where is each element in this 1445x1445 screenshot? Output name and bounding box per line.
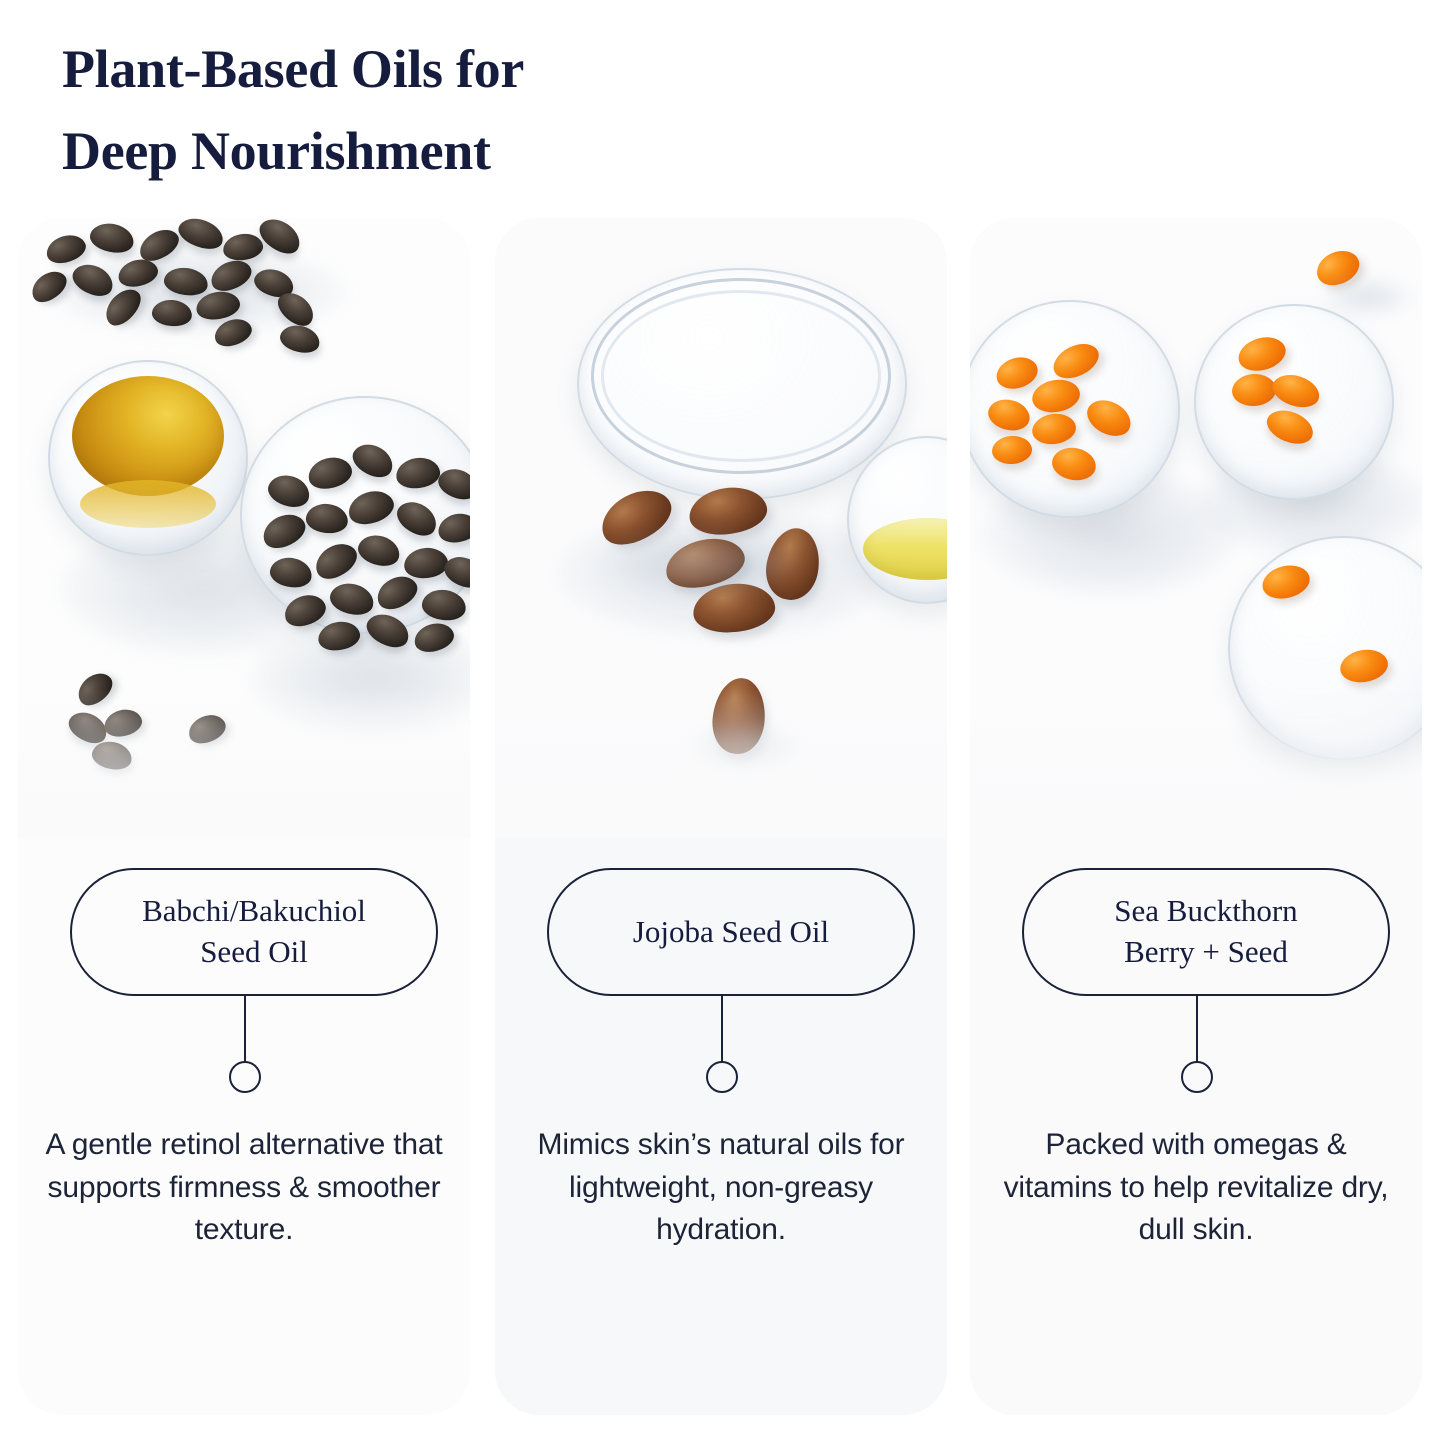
- connector-line: [244, 996, 246, 1062]
- connector-line: [1196, 996, 1198, 1062]
- ingredient-photo-sea-buckthorn: [970, 218, 1422, 838]
- ingredient-label-babchi[interactable]: Babchi/Bakuchiol Seed Oil: [70, 868, 438, 996]
- ingredient-label-sea-buckthorn[interactable]: Sea Buckthorn Berry + Seed: [1022, 868, 1390, 996]
- page-title: Plant-Based Oils for Deep Nourishment: [62, 28, 822, 192]
- ingredient-photo-jojoba: [495, 218, 947, 838]
- infographic-page: Plant-Based Oils for Deep Nourishment: [0, 0, 1445, 1445]
- connector-dot-icon: [229, 1061, 261, 1093]
- connector-dot-icon: [706, 1061, 738, 1093]
- ingredient-label-jojoba[interactable]: Jojoba Seed Oil: [547, 868, 915, 996]
- ingredient-column-babchi: Babchi/Bakuchiol Seed Oil A gentle retin…: [18, 218, 470, 1418]
- ingredient-photo-babchi: [18, 218, 470, 838]
- ingredient-description-babchi: A gentle retinol alternative that suppor…: [44, 1124, 444, 1252]
- connector-line: [721, 996, 723, 1062]
- ingredient-column-sea-buckthorn: Sea Buckthorn Berry + Seed Packed with o…: [970, 218, 1422, 1418]
- connector-dot-icon: [1181, 1061, 1213, 1093]
- ingredient-description-sea-buckthorn: Packed with omegas & vitamins to help re…: [996, 1124, 1396, 1252]
- ingredient-column-jojoba: Jojoba Seed Oil Mimics skin’s natural oi…: [495, 218, 947, 1418]
- ingredient-description-jojoba: Mimics skin’s natural oils for lightweig…: [521, 1124, 921, 1252]
